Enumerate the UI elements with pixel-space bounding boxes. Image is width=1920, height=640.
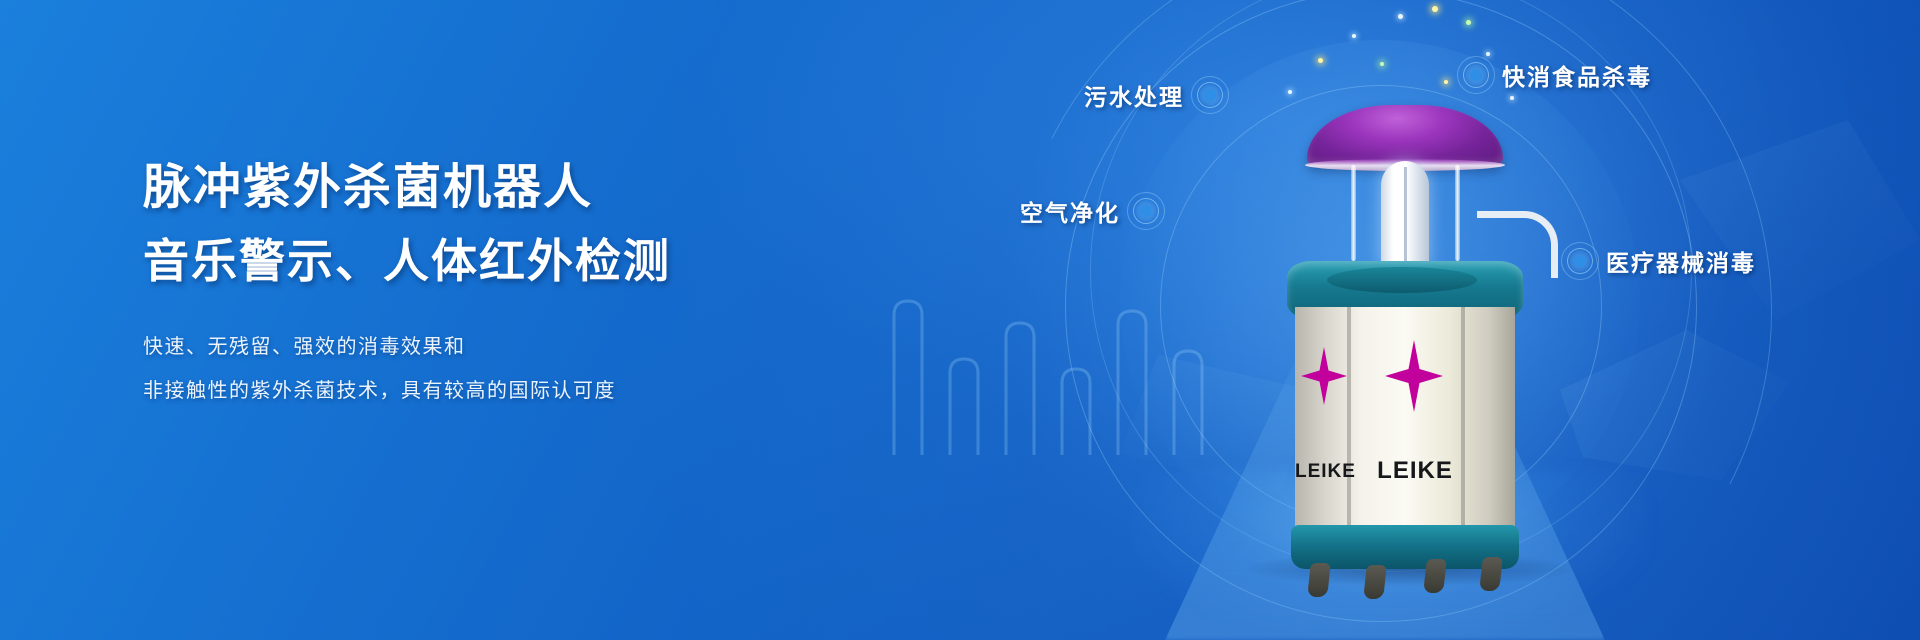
callout-food-disinfection: 快消食品杀毒 (1464, 58, 1652, 92)
support-rod (1455, 165, 1460, 261)
node-marker-icon (1198, 83, 1222, 107)
callout-label: 医疗器械消毒 (1606, 244, 1756, 278)
sparkle (1398, 14, 1403, 19)
subtitle-line-1: 快速、无残留、强效的消毒效果和 (143, 324, 903, 368)
node-marker-icon (1464, 63, 1488, 87)
callout-label: 空气净化 (1020, 194, 1120, 228)
sparkle (1288, 90, 1292, 94)
promo-banner: 脉冲紫外杀菌机器人 音乐警示、人体红外检测 快速、无残留、强效的消毒效果和 非接… (0, 0, 1920, 640)
node-marker-icon (1568, 249, 1592, 273)
brand-text: LEIKE (1295, 461, 1353, 483)
panel-seam (1461, 307, 1465, 529)
node-marker-icon (1134, 199, 1158, 223)
sparkle (1380, 62, 1384, 66)
brand-text: LEIKE (1369, 457, 1461, 485)
headline-block: 脉冲紫外杀菌机器人 音乐警示、人体红外检测 快速、无残留、强效的消毒效果和 非接… (143, 150, 903, 412)
callout-air-purification: 空气净化 (1020, 194, 1158, 228)
subtitle-block: 快速、无残留、强效的消毒效果和 非接触性的紫外杀菌技术，具有较高的国际认可度 (143, 324, 903, 412)
sparkle (1318, 58, 1323, 63)
sparkle (1466, 20, 1471, 25)
callout-label: 快消食品杀毒 (1502, 58, 1652, 92)
caster-wheel (1363, 565, 1387, 599)
headline-line-2: 音乐警示、人体红外检测 (143, 224, 903, 298)
headline-line-1: 脉冲紫外杀菌机器人 (143, 150, 903, 224)
sparkle (1432, 6, 1438, 12)
uv-disinfection-robot: LEIKE LEIKE (1265, 95, 1545, 575)
subtitle-line-2: 非接触性的紫外杀菌技术，具有较高的国际认可度 (143, 368, 903, 412)
caster-wheel (1307, 563, 1331, 597)
uv-reflector-dome (1307, 105, 1503, 167)
callout-wastewater-treatment: 污水处理 (1084, 78, 1222, 112)
sparkle (1486, 52, 1490, 56)
panel-seam (1347, 307, 1351, 529)
caster-wheel (1479, 557, 1503, 591)
sparkle (1444, 80, 1448, 84)
callout-label: 污水处理 (1084, 78, 1184, 112)
chassis-top-recess (1327, 267, 1477, 293)
facet-shape (1560, 330, 1790, 480)
waveform-graphic (880, 255, 1210, 455)
support-rod (1351, 165, 1356, 261)
caster-wheel (1423, 559, 1447, 593)
lamp-tube-seam (1404, 167, 1407, 263)
sparkle (1352, 34, 1356, 38)
callout-medical-device-disinfection: 医疗器械消毒 (1568, 244, 1756, 278)
facet-shape (1680, 120, 1920, 320)
